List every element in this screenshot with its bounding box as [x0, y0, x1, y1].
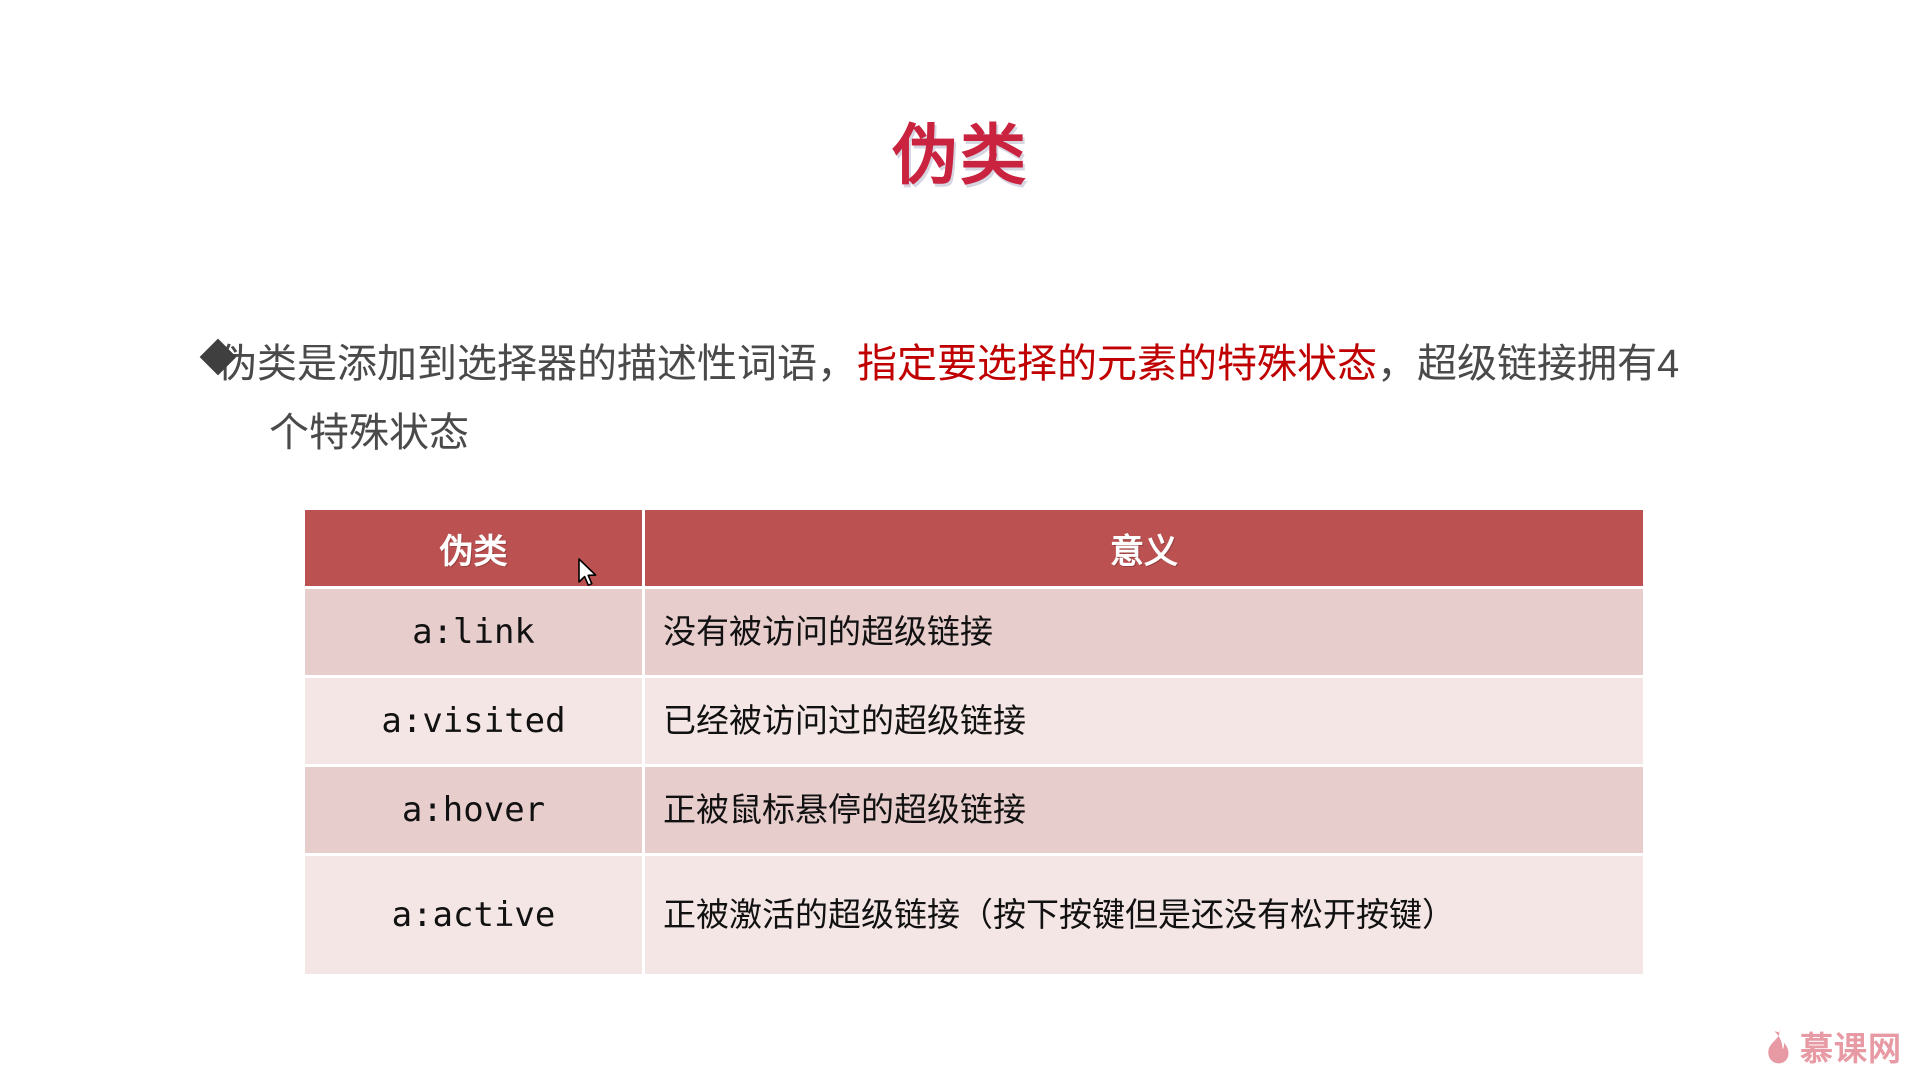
cell-pseudo-class-name: a:visited [305, 675, 645, 764]
table-row: a:hover 正被鼠标悬停的超级链接 [305, 764, 1643, 853]
cell-pseudo-class-desc: 正被激活的超级链接（按下按键但是还没有松开按键） [645, 853, 1643, 974]
body-segment-plain-1: 伪类是添加到选择器的描述性词语， [217, 342, 857, 386]
page-title: 伪类 [0, 122, 1920, 188]
cell-pseudo-class-desc: 正被鼠标悬停的超级链接 [645, 764, 1643, 853]
imooc-logo-text: 慕课网 [1800, 1022, 1902, 1070]
table-row: a:link 没有被访问的超级链接 [305, 586, 1643, 675]
body-segment-highlight: 指定要选择的元素的特殊状态 [857, 342, 1377, 386]
cell-pseudo-class-name: a:hover [305, 764, 645, 853]
cell-pseudo-class-name: a:active [305, 853, 645, 974]
body-paragraph: 伪类是添加到选择器的描述性词语，指定要选择的元素的特殊状态，超级链接拥有4个特殊… [269, 330, 1705, 468]
pseudo-class-table: 伪类 意义 a:link 没有被访问的超级链接 a:visited 已经被访问过… [305, 510, 1643, 974]
cell-pseudo-class-desc: 已经被访问过的超级链接 [645, 675, 1643, 764]
table-row: a:active 正被激活的超级链接（按下按键但是还没有松开按键） [305, 853, 1643, 974]
table-header-row: 伪类 意义 [305, 510, 1643, 586]
bullet-row: 伪类是添加到选择器的描述性词语，指定要选择的元素的特殊状态，超级链接拥有4个特殊… [205, 330, 1705, 468]
body-paragraph-block: 伪类是添加到选择器的描述性词语，指定要选择的元素的特殊状态，超级链接拥有4个特殊… [205, 330, 1705, 468]
cell-pseudo-class-desc: 没有被访问的超级链接 [645, 586, 1643, 675]
table-row: a:visited 已经被访问过的超级链接 [305, 675, 1643, 764]
table-header-meaning: 意义 [645, 510, 1643, 586]
flame-icon [1762, 1028, 1792, 1064]
cell-pseudo-class-name: a:link [305, 586, 645, 675]
table-header-pseudo-class: 伪类 [305, 510, 645, 586]
imooc-logo: 慕课网 [1762, 1022, 1902, 1070]
